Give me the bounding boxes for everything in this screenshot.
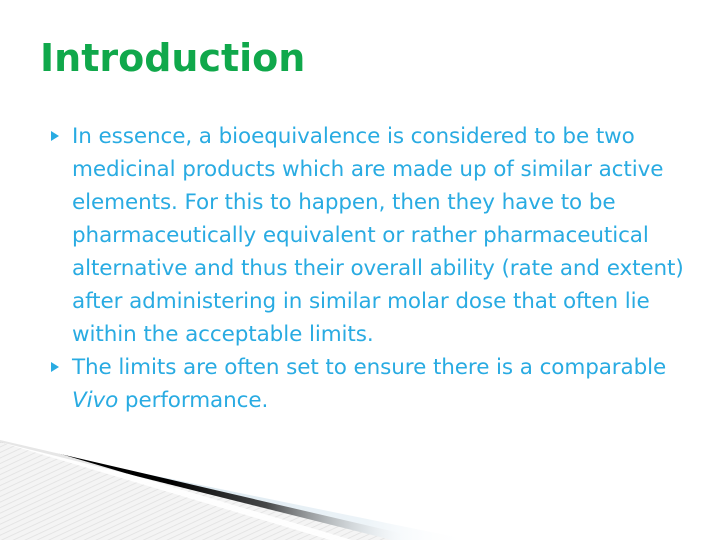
page-title: Introduction	[40, 38, 305, 80]
list-item-text-emphasis: Vivo	[72, 388, 118, 413]
bottom-left-diagonal-corner-graphic	[0, 430, 720, 540]
list-item: In essence, a bioequivalence is consider…	[48, 120, 688, 351]
list-item-text: The limits are often set to ensure there…	[72, 351, 688, 417]
bullet-list: In essence, a bioequivalence is consider…	[48, 120, 688, 417]
list-item-text-tail: performance.	[118, 388, 268, 413]
slide-canvas: Introduction In essence, a bioequivalenc…	[0, 0, 720, 540]
list-item: The limits are often set to ensure there…	[48, 351, 688, 417]
list-item-text: In essence, a bioequivalence is consider…	[72, 120, 688, 351]
list-item-text-main: In essence, a bioequivalence is consider…	[72, 124, 684, 347]
triangle-bullet-icon	[51, 131, 59, 141]
list-item-text-main: The limits are often set to ensure there…	[72, 355, 666, 380]
triangle-bullet-icon	[51, 362, 59, 372]
